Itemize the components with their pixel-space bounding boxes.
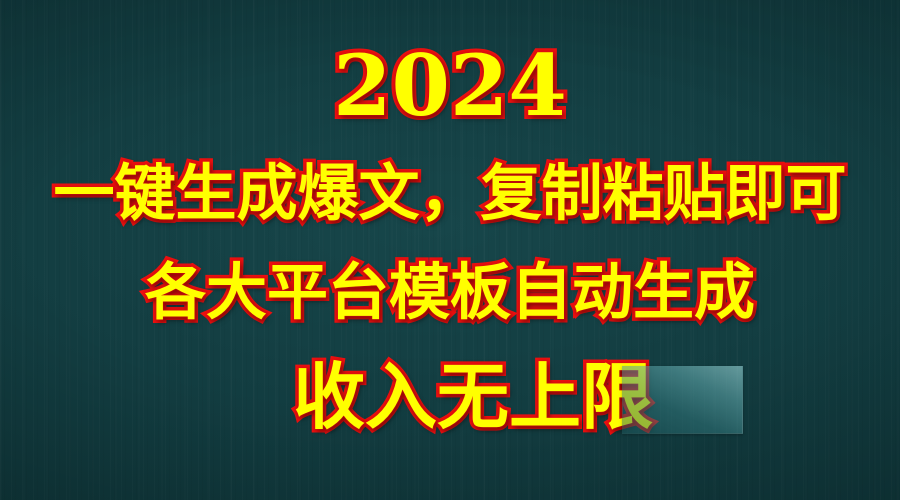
promo-poster: 2024 一键生成爆文，复制粘贴即可 各大平台模板自动生成 收入无上限: [0, 0, 900, 500]
headline-line-3: 收入无上限: [0, 361, 900, 433]
translucent-overlay-panel: [622, 366, 743, 434]
headline-year: 2024: [0, 44, 900, 128]
headline-line-1: 一键生成爆文，复制粘贴即可: [0, 163, 900, 224]
headline-line-2: 各大平台模板自动生成: [0, 262, 900, 323]
